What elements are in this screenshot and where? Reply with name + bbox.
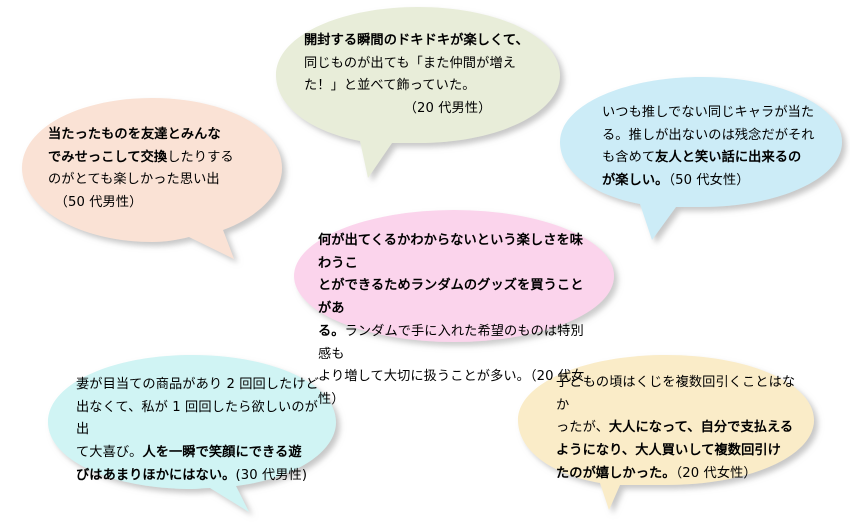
speech-bubble-cyan-line: びはあまりほかにはない。(30 代男性): [76, 465, 324, 488]
speech-bubble-cyan-line: 妻が目当ての商品があり 2 回回したけど: [76, 374, 324, 397]
speech-bubble-yellow-text: 子どもの頃はくじを複数回引くことはなかったが、大人になって、自分で支払えるように…: [556, 372, 798, 486]
speech-bubble-green-line: （20 代男性）: [304, 98, 534, 121]
text-run: る。: [318, 324, 345, 339]
speech-bubble-pink-text: 何が出てくるかわからないという楽しさを味わうことができるためランダムのグッズを買…: [318, 230, 596, 412]
speech-bubble-blue-line: る。推しが出ないのは残念だがそれ: [602, 125, 822, 148]
speech-bubble-green-line: た！」と並べて飾っていた。: [304, 75, 534, 98]
text-run: 大人になって、自分で支払える: [609, 420, 793, 435]
text-run: （20 代男性）: [304, 101, 491, 116]
speech-bubble-peach-line: 当たったものを友達とみんな: [48, 124, 264, 147]
text-run: が楽しい。: [602, 173, 668, 188]
text-run: る。推しが出ないのは残念だがそれ: [602, 128, 815, 143]
text-run: びはあまりほかにはない。: [76, 468, 235, 483]
text-run: たのが嬉しかった。: [556, 466, 676, 481]
speech-bubble-yellow-line: 子どもの頃はくじを複数回引くことはなか: [556, 372, 798, 417]
speech-bubble-peach-line: でみせっこして交換したりする: [48, 147, 264, 170]
text-run: （20 代女性）: [676, 466, 757, 481]
text-run: ようになり、大人買いして複数回引け: [556, 443, 781, 458]
speech-bubble-cyan-line: 出なくて、私が 1 回回したら欲しいのが出: [76, 397, 324, 442]
text-run: も含めて: [602, 150, 655, 165]
text-run: 人を一瞬で笑顔にできる遊: [142, 445, 301, 460]
speech-bubble-peach[interactable]: 当たったものを友達とみんなでみせっこして交換したりするのがとても楽しかった思い出…: [18, 96, 286, 264]
text-run: ったが、: [556, 420, 609, 435]
text-run: 子どもの頃はくじを複数回引くことはなか: [556, 375, 795, 413]
text-run: いつも推しでない同じキャラが当た: [602, 105, 814, 120]
speech-bubble-pink-line: とができるためランダムのグッズを買うことがあ: [318, 275, 596, 320]
text-run: とができるためランダムのグッズを買うことがあ: [318, 278, 583, 316]
speech-bubble-yellow[interactable]: 子どもの頃はくじを複数回引くことはなかったが、大人になって、自分で支払えるように…: [514, 352, 818, 512]
text-run: ランダムで手に入れた希望のものは特別感も: [318, 324, 584, 362]
text-run: より増して大切に扱うことが多い。（20 代女性）: [318, 369, 584, 407]
speech-bubble-blue-text: いつも推しでない同じキャラが当たる。推しが出ないのは残念だがそれも含めて友人と笑…: [602, 102, 822, 193]
speech-bubble-green[interactable]: 開封する瞬間のドキドキが楽しくて、同じものが出ても「また仲間が増えた！」と並べて…: [272, 4, 564, 182]
text-run: た！」と並べて飾っていた。: [304, 78, 476, 93]
text-run: 出なくて、私が 1 回回したら欲しいのが出: [76, 400, 318, 438]
text-run: したりする: [167, 150, 233, 165]
speech-bubble-yellow-line: ったが、大人になって、自分で支払える: [556, 417, 798, 440]
speech-bubble-peach-text: 当たったものを友達とみんなでみせっこして交換したりするのがとても楽しかった思い出…: [48, 124, 264, 215]
speech-bubble-pink-line: より増して大切に扱うことが多い。（20 代女性）: [318, 366, 596, 411]
speech-bubble-yellow-line: たのが嬉しかった。（20 代女性）: [556, 463, 798, 486]
speech-bubble-pink-line: る。ランダムで手に入れた希望のものは特別感も: [318, 321, 596, 366]
speech-bubble-cyan-text: 妻が目当ての商品があり 2 回回したけど出なくて、私が 1 回回したら欲しいのが…: [76, 374, 324, 488]
text-run: 友人と笑い話に出来るの: [655, 150, 801, 165]
speech-bubble-peach-line: のがとても楽しかった思い出: [48, 169, 264, 192]
speech-bubble-peach-line: （50 代男性）: [48, 192, 264, 215]
speech-bubble-yellow-line: ようになり、大人買いして複数回引け: [556, 440, 798, 463]
speech-bubble-blue-line: いつも推しでない同じキャラが当た: [602, 102, 822, 125]
speech-bubble-blue-line: も含めて友人と笑い話に出来るの: [602, 147, 822, 170]
speech-bubble-green-line: 開封する瞬間のドキドキが楽しくて、: [304, 30, 534, 53]
speech-bubble-pink-line: 何が出てくるかわからないという楽しさを味わうこ: [318, 230, 596, 275]
speech-bubble-blue-line: が楽しい。（50 代女性）: [602, 170, 822, 193]
speech-bubble-green-text: 開封する瞬間のドキドキが楽しくて、同じものが出ても「また仲間が増えた！」と並べて…: [304, 30, 534, 121]
speech-bubble-cyan-line: て大喜び。人を一瞬で笑顔にできる遊: [76, 442, 324, 465]
text-run: 同じものが出ても「また仲間が増え: [304, 56, 516, 71]
bubble-comment-board: 当たったものを友達とみんなでみせっこして交換したりするのがとても楽しかった思い出…: [0, 0, 850, 525]
text-run: 当たったものを友達とみんな: [48, 127, 221, 142]
text-run: 何が出てくるかわからないという楽しさを味わうこ: [318, 233, 583, 271]
speech-bubble-pink[interactable]: 何が出てくるかわからないという楽しさを味わうことができるためランダムのグッズを買…: [292, 208, 620, 348]
text-run: (30 代男性): [235, 468, 307, 483]
speech-bubble-green-line: 同じものが出ても「また仲間が増え: [304, 53, 534, 76]
text-run: 妻が目当ての商品があり 2 回回したけど: [76, 377, 319, 392]
speech-bubble-cyan[interactable]: 妻が目当ての商品があり 2 回回したけど出なくて、私が 1 回回したら欲しいのが…: [44, 352, 340, 514]
text-run: （50 代男性）: [48, 195, 142, 210]
text-run: のがとても楽しかった思い出: [48, 172, 220, 187]
text-run: て大喜び。: [76, 445, 142, 460]
text-run: でみせっこして交換: [48, 150, 167, 165]
text-run: （50 代女性）: [668, 173, 749, 188]
text-run: 開封する瞬間のドキドキが楽しくて、: [304, 33, 529, 48]
